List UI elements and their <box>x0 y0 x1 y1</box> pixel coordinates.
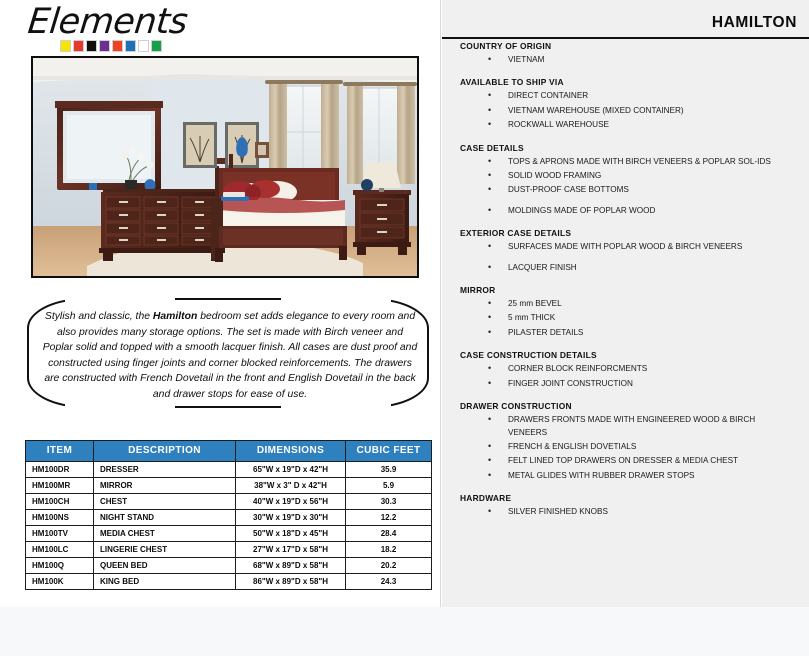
spec-item-list: VIETNAM <box>460 53 806 67</box>
spec-item: CORNER BLOCK REINFORCMENTS <box>488 362 806 376</box>
spec-section-title: MIRROR <box>460 285 806 295</box>
sku-table: ITEM DESCRIPTION DIMENSIONS CUBIC FEET H… <box>25 440 432 590</box>
cell-description: QUEEN BED <box>94 558 236 574</box>
cell-description: NIGHT STAND <box>94 510 236 526</box>
spec-section-title: EXTERIOR CASE DETAILS <box>460 228 806 238</box>
spec-section: EXTERIOR CASE DETAILSSURFACES MADE WITH … <box>460 228 806 275</box>
cell-cubic-feet: 20.2 <box>346 558 432 574</box>
spec-section-title: CASE CONSTRUCTION DETAILS <box>460 350 806 360</box>
spec-section-title: COUNTRY OF ORIGIN <box>460 41 806 51</box>
header-divider <box>442 37 809 39</box>
spec-item: METAL GLIDES WITH RUBBER DRAWER STOPS <box>488 469 806 483</box>
page-title: HAMILTON <box>712 14 797 32</box>
spec-item: LACQUER FINISH <box>488 261 806 275</box>
spec-section: CASE DETAILSTOPS & APRONS MADE WITH BIRC… <box>460 143 806 219</box>
spec-section: DRAWER CONSTRUCTIONDRAWERS FRONTS MADE W… <box>460 401 806 483</box>
spec-item: FRENCH & ENGLISH DOVETIALS <box>488 440 806 454</box>
cell-item: HM100CH <box>26 494 94 510</box>
description-product-name: Hamilton <box>153 311 197 322</box>
spec-item: SOLID WOOD FRAMING <box>488 169 806 183</box>
col-header-cubic-feet: CUBIC FEET <box>346 441 432 462</box>
color-swatch-6 <box>138 40 149 52</box>
table-row: HM100LCLINGERIE CHEST27"W x 17"D x 58"H1… <box>26 542 432 558</box>
spec-item-list: CORNER BLOCK REINFORCMENTSFINGER JOINT C… <box>460 362 806 391</box>
left-column: Elements <box>0 0 441 607</box>
spec-item-list: 25 mm BEVEL5 mm THICKPILASTER DETAILS <box>460 297 806 340</box>
color-swatch-4 <box>112 40 123 52</box>
specification-list: COUNTRY OF ORIGINVIETNAMAVAILABLE TO SHI… <box>460 41 806 530</box>
spec-item: TOPS & APRONS MADE WITH BIRCH VENEERS & … <box>488 155 806 169</box>
color-swatch-7 <box>151 40 162 52</box>
cell-item: HM100MR <box>26 478 94 494</box>
color-swatch-2 <box>86 40 97 52</box>
cell-item: HM100LC <box>26 542 94 558</box>
spec-item: PILASTER DETAILS <box>488 326 806 340</box>
color-swatch-0 <box>60 40 71 52</box>
cell-description: MEDIA CHEST <box>94 526 236 542</box>
table-row: HM100TVMEDIA CHEST50"W x 18"D x 45"H28.4 <box>26 526 432 542</box>
cell-cubic-feet: 18.2 <box>346 542 432 558</box>
cell-item: HM100NS <box>26 510 94 526</box>
spec-item: FELT LINED TOP DRAWERS ON DRESSER & MEDI… <box>488 454 806 468</box>
spec-item: DRAWERS FRONTS MADE WITH ENGINEERED WOOD… <box>488 413 806 440</box>
page-root: Elements <box>0 0 809 656</box>
spec-section: CASE CONSTRUCTION DETAILSCORNER BLOCK RE… <box>460 350 806 391</box>
cell-dimensions: 68"W x 89"D x 58"H <box>236 558 346 574</box>
spec-sheet: Elements <box>0 0 809 607</box>
color-swatch-3 <box>99 40 110 52</box>
cell-item: HM100Q <box>26 558 94 574</box>
brand-color-swatches <box>60 40 162 52</box>
cell-cubic-feet: 12.2 <box>346 510 432 526</box>
color-swatch-1 <box>73 40 84 52</box>
table-row: HM100CHCHEST40"W x 19"D x 56"H30.3 <box>26 494 432 510</box>
spec-item-list: DIRECT CONTAINERVIETNAM WAREHOUSE (MIXED… <box>460 89 806 132</box>
brand-wordmark: Elements <box>26 2 230 42</box>
cell-cubic-feet: 5.9 <box>346 478 432 494</box>
cell-description: DRESSER <box>94 462 236 478</box>
cell-description: LINGERIE CHEST <box>94 542 236 558</box>
table-body: HM100DRDRESSER65"W x 19"D x 42"H35.9HM10… <box>26 462 432 590</box>
spec-section: MIRROR25 mm BEVEL5 mm THICKPILASTER DETA… <box>460 285 806 340</box>
col-header-dimensions: DIMENSIONS <box>236 441 346 462</box>
table-row: HM100DRDRESSER65"W x 19"D x 42"H35.9 <box>26 462 432 478</box>
spec-item: 5 mm THICK <box>488 311 806 325</box>
product-photo <box>31 56 419 278</box>
spec-item: SILVER FINISHED KNOBS <box>488 505 806 519</box>
table-row: HM100KKING BED86"W x 89"D x 58"H24.3 <box>26 574 432 590</box>
spec-item: FINGER JOINT CONSTRUCTION <box>488 377 806 391</box>
cell-description: CHEST <box>94 494 236 510</box>
spec-item-list: SURFACES MADE WITH POPLAR WOOD & BIRCH V… <box>460 240 806 275</box>
cell-cubic-feet: 24.3 <box>346 574 432 590</box>
cell-cubic-feet: 28.4 <box>346 526 432 542</box>
spec-section-title: AVAILABLE TO SHIP VIA <box>460 77 806 87</box>
model-header: HAMILTON <box>442 0 809 40</box>
spec-section: COUNTRY OF ORIGINVIETNAM <box>460 41 806 67</box>
table-row: HM100QQUEEN BED68"W x 89"D x 58"H20.2 <box>26 558 432 574</box>
spec-item: DUST-PROOF CASE BOTTOMS <box>488 183 806 197</box>
table-header-row: ITEM DESCRIPTION DIMENSIONS CUBIC FEET <box>26 441 432 462</box>
spec-item: MOLDINGS MADE OF POPLAR WOOD <box>488 204 806 218</box>
table-row: HM100MRMIRROR38"W x 3" D x 42"H5.9 <box>26 478 432 494</box>
spec-section: AVAILABLE TO SHIP VIADIRECT CONTAINERVIE… <box>460 77 806 132</box>
spec-item-list: TOPS & APRONS MADE WITH BIRCH VENEERS & … <box>460 155 806 219</box>
color-swatch-5 <box>125 40 136 52</box>
spec-item-list: SILVER FINISHED KNOBS <box>460 505 806 519</box>
spec-item: ROCKWALL WAREHOUSE <box>488 118 806 132</box>
cell-item: HM100TV <box>26 526 94 542</box>
spec-section: HARDWARESILVER FINISHED KNOBS <box>460 493 806 519</box>
cell-dimensions: 50"W x 18"D x 45"H <box>236 526 346 542</box>
cell-cubic-feet: 35.9 <box>346 462 432 478</box>
cell-dimensions: 27"W x 17"D x 58"H <box>236 542 346 558</box>
cell-dimensions: 40"W x 19"D x 56"H <box>236 494 346 510</box>
bedroom-scene-illustration <box>33 58 417 276</box>
description-text: Stylish and classic, the Hamilton bedroo… <box>41 309 419 403</box>
spec-item-list: DRAWERS FRONTS MADE WITH ENGINEERED WOOD… <box>460 413 806 483</box>
spec-section-title: HARDWARE <box>460 493 806 503</box>
cell-description: MIRROR <box>94 478 236 494</box>
spec-item: VIETNAM WAREHOUSE (MIXED CONTAINER) <box>488 104 806 118</box>
cell-dimensions: 86"W x 89"D x 58"H <box>236 574 346 590</box>
col-header-description: DESCRIPTION <box>94 441 236 462</box>
spec-section-title: DRAWER CONSTRUCTION <box>460 401 806 411</box>
description-callout: Stylish and classic, the Hamilton bedroo… <box>27 298 429 408</box>
spec-item: 25 mm BEVEL <box>488 297 806 311</box>
cell-item: HM100DR <box>26 462 94 478</box>
table-row: HM100NSNIGHT STAND30"W x 19"D x 30"H12.2 <box>26 510 432 526</box>
right-column: HAMILTON COUNTRY OF ORIGINVIETNAMAVAILAB… <box>442 0 809 607</box>
spec-item: SURFACES MADE WITH POPLAR WOOD & BIRCH V… <box>488 240 806 254</box>
cell-cubic-feet: 30.3 <box>346 494 432 510</box>
spec-item: DIRECT CONTAINER <box>488 89 806 103</box>
cell-description: KING BED <box>94 574 236 590</box>
cell-dimensions: 38"W x 3" D x 42"H <box>236 478 346 494</box>
spec-item: VIETNAM <box>488 53 806 67</box>
spec-section-title: CASE DETAILS <box>460 143 806 153</box>
cell-item: HM100K <box>26 574 94 590</box>
cell-dimensions: 30"W x 19"D x 30"H <box>236 510 346 526</box>
cell-dimensions: 65"W x 19"D x 42"H <box>236 462 346 478</box>
col-header-item: ITEM <box>26 441 94 462</box>
